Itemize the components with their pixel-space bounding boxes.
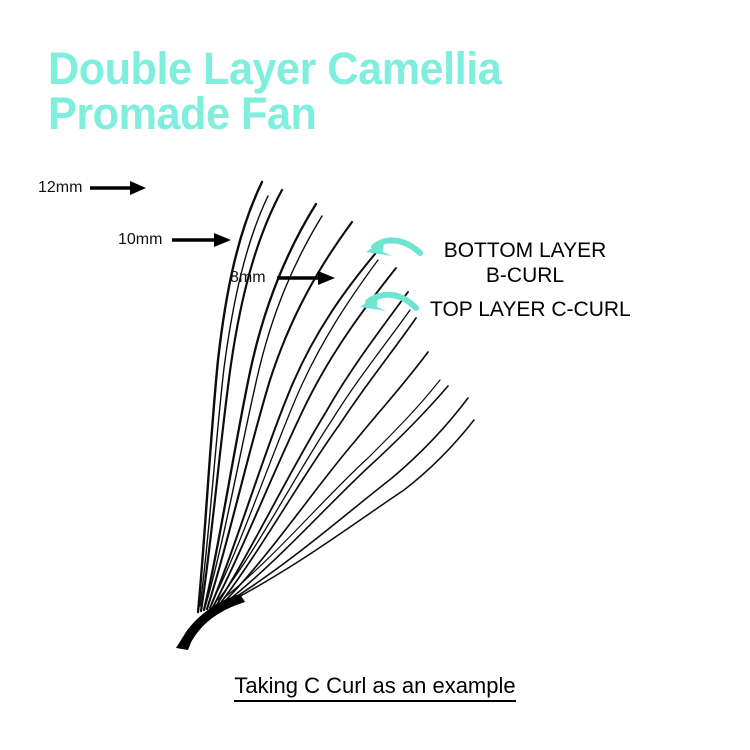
lash-strand [216,292,408,606]
measurement-label-12mm: 12mm [38,179,82,197]
curl-arrow-heads [360,240,392,311]
measurement-arrow-8mm [277,271,335,285]
lash-strand [213,268,396,607]
measurement-label-8mm: 8mm [230,269,266,287]
measurement-label-10mm: 10mm [118,231,162,249]
lash-fan-illustration [0,0,750,750]
caption-text: Taking C Curl as an example [234,673,515,702]
lash-strand [222,352,428,604]
lash-strand [228,398,468,602]
bottom-layer-note: BOTTOM LAYER B-CURL [430,238,620,288]
lash-strand [204,204,316,610]
measurement-arrow-12mm [90,181,146,195]
measurement-arrow-10mm [172,233,231,247]
top-layer-note: TOP LAYER C-CURL [430,297,645,322]
product-image-canvas: Double Layer Camellia Promade Fan [0,0,750,750]
lash-strand [212,260,378,602]
lash-strand [219,318,416,605]
caption: Taking C Curl as an example [0,672,750,700]
